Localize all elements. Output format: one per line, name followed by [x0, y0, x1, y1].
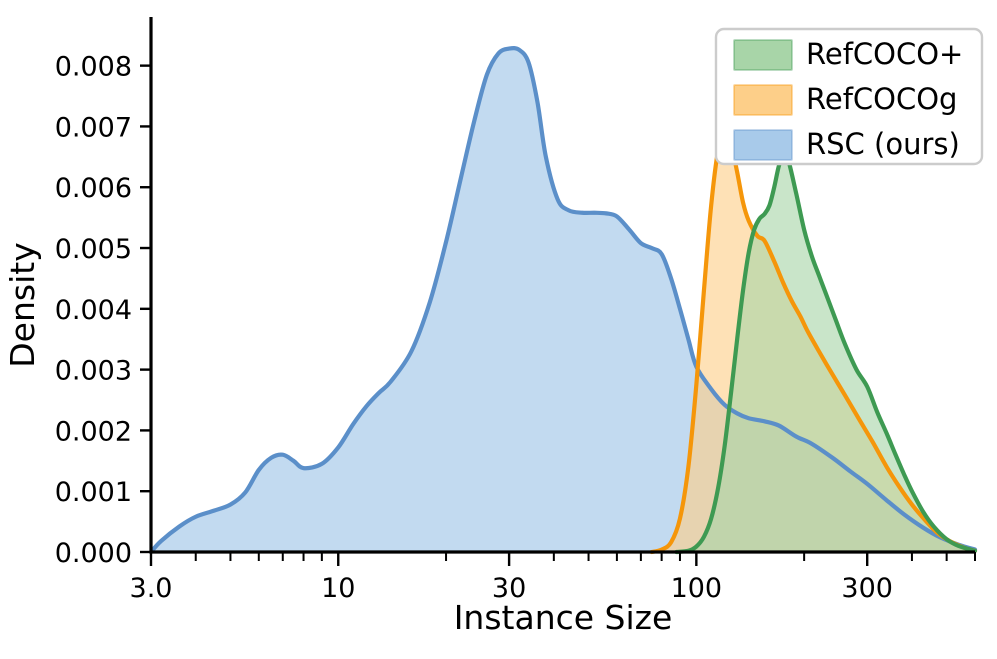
y-tick-label: 0.004	[55, 295, 132, 326]
legend-label-refcocog: RefCOCOg	[806, 82, 957, 116]
x-tick-label: 300	[841, 573, 893, 604]
legend-swatch-refcocoplus	[734, 40, 792, 70]
density-plot-figure: 0.0000.0010.0020.0030.0040.0050.0060.007…	[0, 0, 997, 659]
y-tick-label: 0.001	[55, 477, 132, 508]
y-tick-label: 0.000	[55, 538, 132, 569]
x-tick-label: 10	[321, 573, 355, 604]
legend-swatch-rsc	[734, 130, 792, 160]
legend-swatch-refcocog	[734, 85, 792, 115]
y-axis-title: Density	[3, 242, 42, 367]
x-tick-label: 3.0	[130, 573, 173, 604]
y-tick-label: 0.008	[55, 52, 132, 83]
legend[interactable]: RefCOCO+ RefCOCOg RSC (ours)	[716, 29, 982, 164]
chart-canvas: 0.0000.0010.0020.0030.0040.0050.0060.007…	[0, 0, 997, 659]
y-tick-label: 0.006	[55, 173, 132, 204]
legend-label-refcocoplus: RefCOCO+	[806, 37, 963, 71]
y-tick-label: 0.005	[55, 234, 132, 265]
y-tick-label: 0.007	[55, 112, 132, 143]
x-tick-label: 100	[671, 573, 723, 604]
y-tick-label: 0.003	[55, 356, 132, 387]
legend-label-rsc: RSC (ours)	[806, 127, 960, 161]
y-tick-label: 0.002	[55, 416, 132, 447]
x-axis-title: Instance Size	[454, 598, 673, 637]
